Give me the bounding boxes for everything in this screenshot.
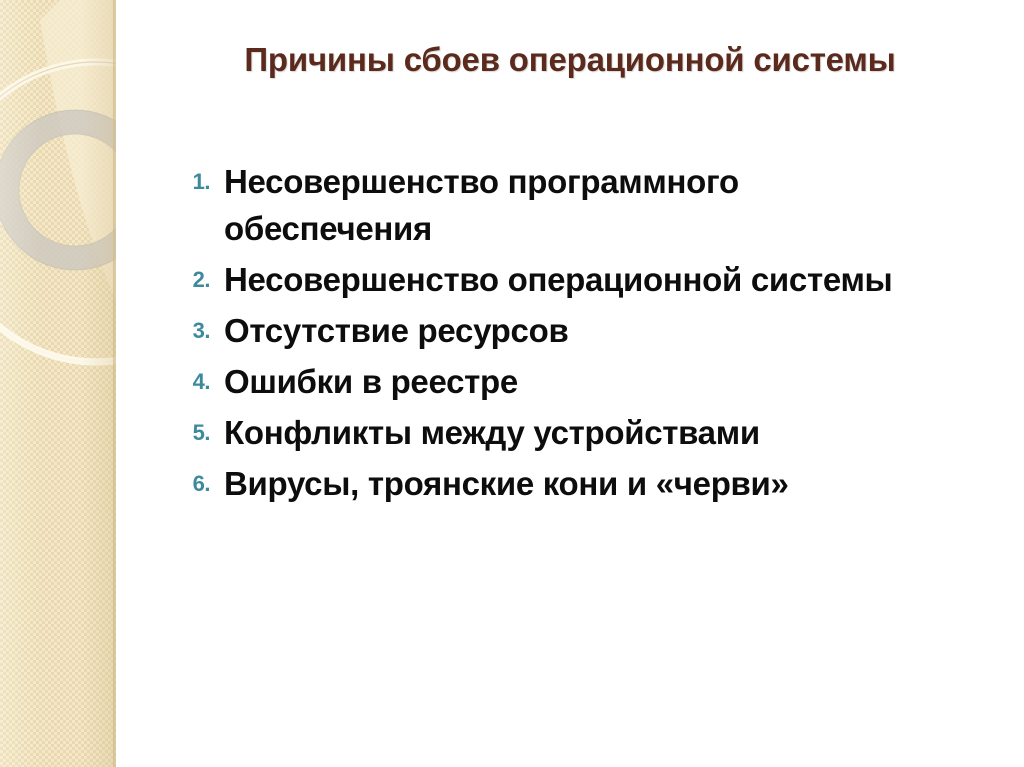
list-item-marker: 1. xyxy=(172,158,224,205)
list-item-label: Вирусы, троянские кони и «черви» xyxy=(224,460,1022,507)
list-item-marker: 6. xyxy=(172,460,224,507)
list-item-label: Несовершенство программного обеспечения xyxy=(224,158,914,252)
list-item: 4. Ошибки в реестре xyxy=(172,358,1022,405)
page-title: Причины сбоев операционной системы xyxy=(116,40,1024,80)
list-item-label: Ошибки в реестре xyxy=(224,358,1022,405)
list-item: 5. Конфликты между устройствами xyxy=(172,409,1022,456)
list-item: 6. Вирусы, троянские кони и «черви» xyxy=(172,460,1022,507)
list-item: 1. Несовершенство программного обеспечен… xyxy=(172,158,1022,252)
list-item: 3. Отсутствие ресурсов xyxy=(172,307,1022,354)
sidebar-decoration-art xyxy=(0,0,116,767)
list-item: 2. Несовершенство операционной системы xyxy=(172,256,1022,303)
slide-canvas: Причины сбоев операционной системы 1. Не… xyxy=(0,0,1024,767)
decorative-sidebar xyxy=(0,0,116,767)
list-item-marker: 2. xyxy=(172,256,224,303)
list-item-marker: 3. xyxy=(172,307,224,354)
list-item-marker: 5. xyxy=(172,409,224,456)
list-item-label: Конфликты между устройствами xyxy=(224,409,1022,456)
list-item-marker: 4. xyxy=(172,358,224,405)
reasons-list: 1. Несовершенство программного обеспечен… xyxy=(172,158,1022,511)
slide-content: Причины сбоев операционной системы 1. Не… xyxy=(116,0,1024,767)
list-item-label: Отсутствие ресурсов xyxy=(224,307,1022,354)
list-item-label: Несовершенство операционной системы xyxy=(224,256,914,303)
